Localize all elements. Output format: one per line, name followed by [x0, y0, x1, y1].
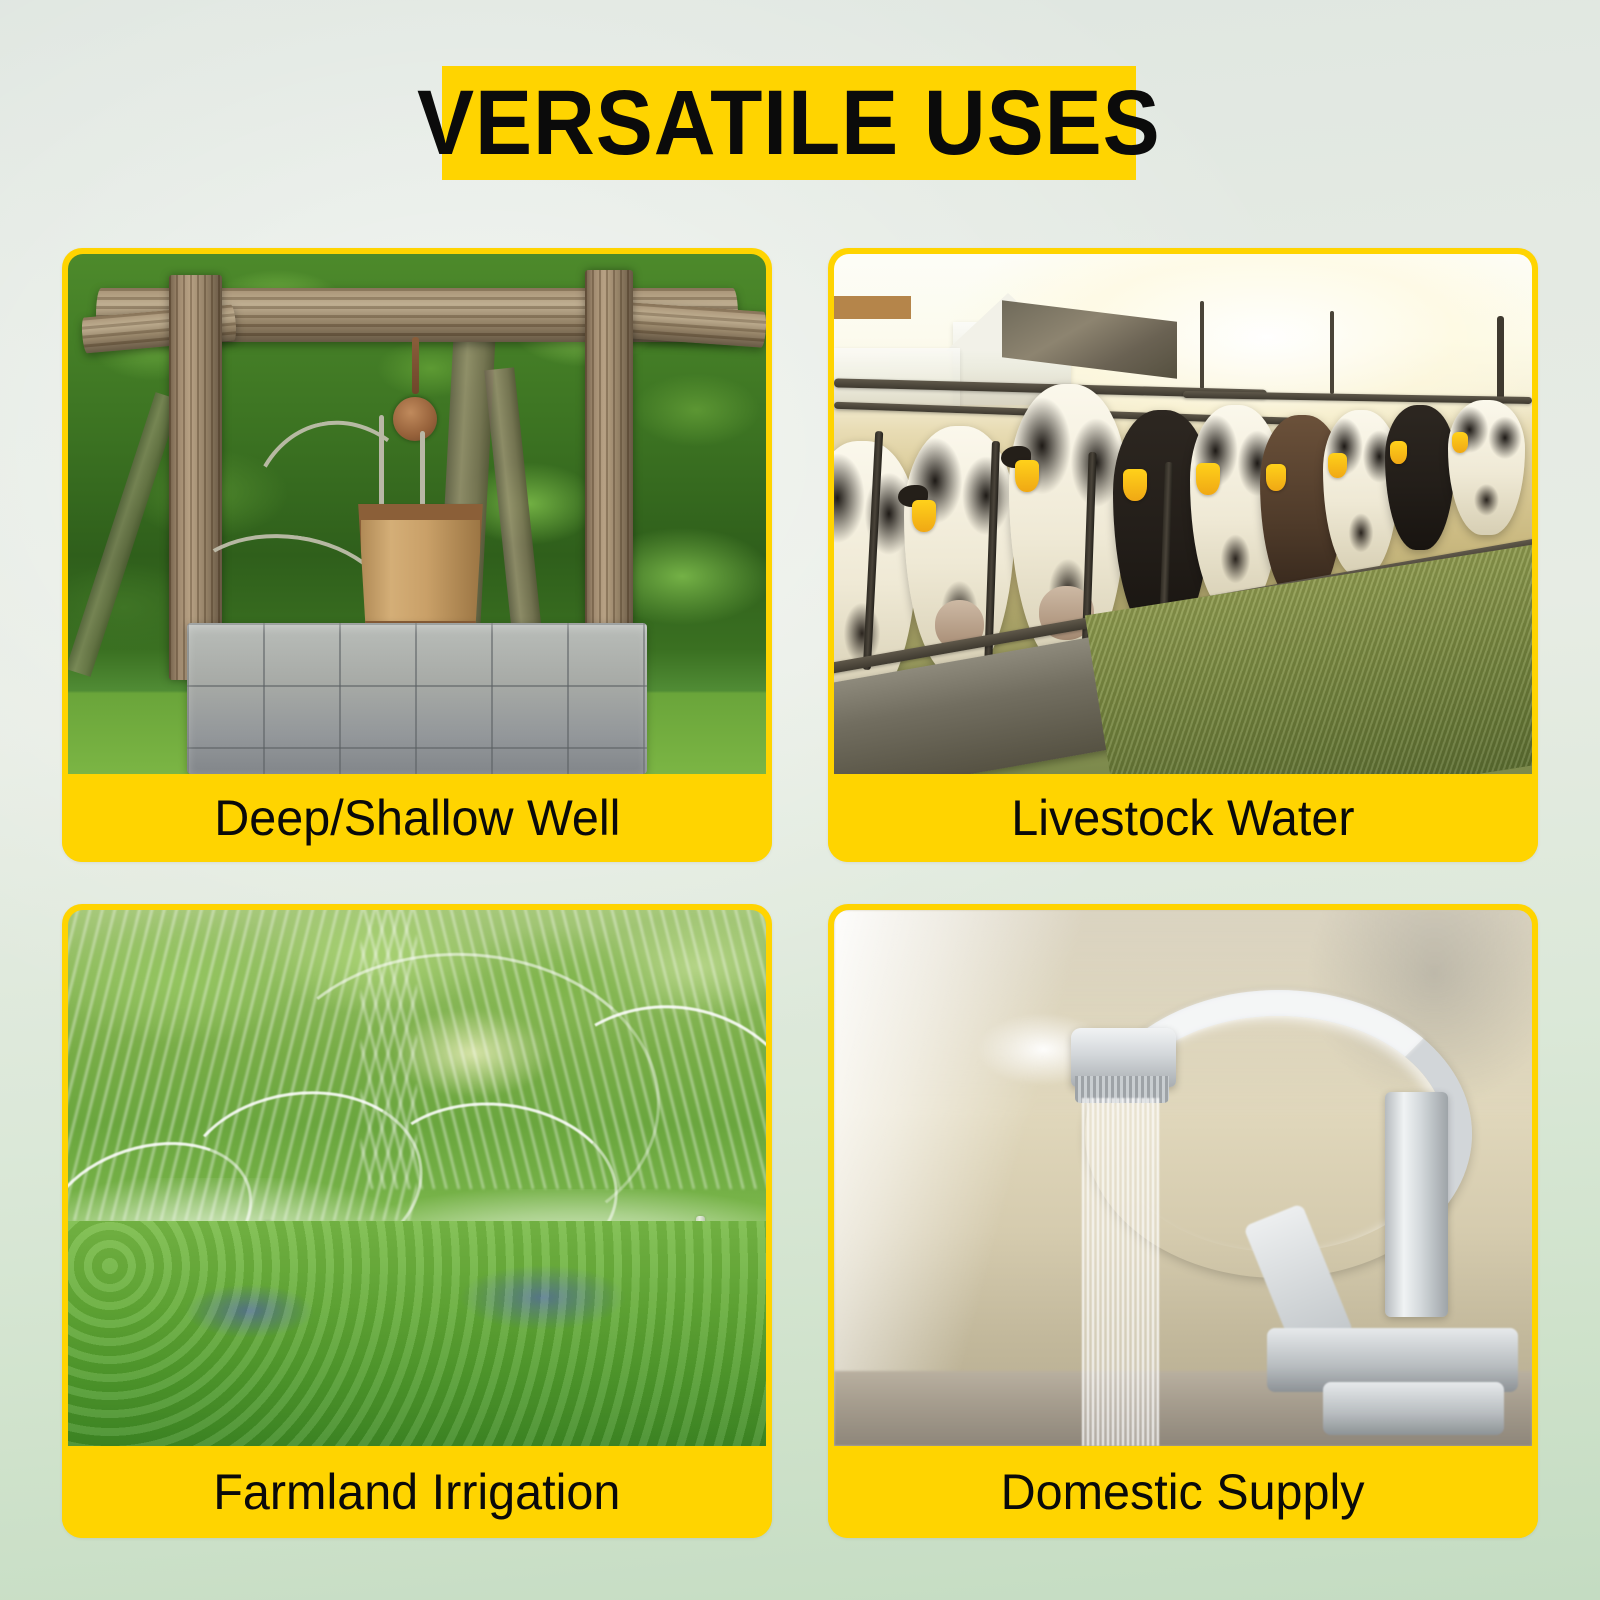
water-stream: [1082, 1098, 1159, 1446]
well-post-right: [585, 270, 634, 681]
caption-bar-livestock-water: Livestock Water: [828, 774, 1538, 862]
ear-tag: [1390, 441, 1407, 464]
shed-roof: [834, 296, 911, 319]
versatile-uses-infographic: VERSATILE USES: [0, 0, 1600, 1600]
caption-bar-farmland-irrigation: Farmland Irrigation: [62, 1446, 772, 1538]
well-rope-strand: [420, 431, 425, 514]
page-title-banner: VERSATILE USES: [442, 66, 1136, 180]
caption-bar-deep-shallow-well: Deep/Shallow Well: [62, 774, 772, 862]
faucet-photo: [834, 910, 1532, 1446]
well-stone-ring: [187, 623, 648, 774]
ear-tag: [1123, 469, 1147, 501]
caption-label: Deep/Shallow Well: [214, 793, 620, 843]
caption-label: Domestic Supply: [1001, 1467, 1365, 1517]
ear-tag: [1015, 460, 1039, 492]
well-photo: [68, 254, 766, 774]
caption-label: Livestock Water: [1011, 793, 1354, 843]
well-bucket: [354, 504, 487, 638]
background-tree-branch: [68, 392, 180, 677]
irrigation-photo: [68, 910, 766, 1446]
use-case-card-livestock-water[interactable]: Livestock Water: [828, 248, 1538, 862]
ear-tag: [1328, 453, 1347, 478]
page-title: VERSATILE USES: [417, 77, 1161, 169]
fence-post: [1497, 316, 1504, 404]
ear-tag: [1266, 464, 1286, 491]
utility-pole: [1200, 301, 1204, 389]
well-rope-strand: [379, 415, 384, 509]
faucet-base-plate: [1323, 1382, 1504, 1436]
pulley-hanger: [412, 337, 419, 394]
caption-bar-domestic-supply: Domestic Supply: [828, 1446, 1538, 1538]
ear-tag: [1452, 432, 1468, 453]
crop-field: [68, 1221, 766, 1446]
use-case-card-domestic-supply[interactable]: Domestic Supply: [828, 904, 1538, 1538]
caption-label: Farmland Irrigation: [213, 1467, 620, 1517]
use-case-card-deep-shallow-well[interactable]: Deep/Shallow Well: [62, 248, 772, 862]
livestock-photo: [834, 254, 1532, 774]
use-case-card-farmland-irrigation[interactable]: Farmland Irrigation: [62, 904, 772, 1538]
ear-tag: [1196, 463, 1220, 495]
faucet-column: [1385, 1092, 1448, 1317]
ear-tag: [912, 500, 936, 532]
use-case-grid: Deep/Shallow Well: [62, 248, 1538, 1538]
bucket-rim: [361, 511, 480, 520]
utility-pole: [1330, 311, 1334, 394]
pulley-wheel: [393, 397, 437, 441]
